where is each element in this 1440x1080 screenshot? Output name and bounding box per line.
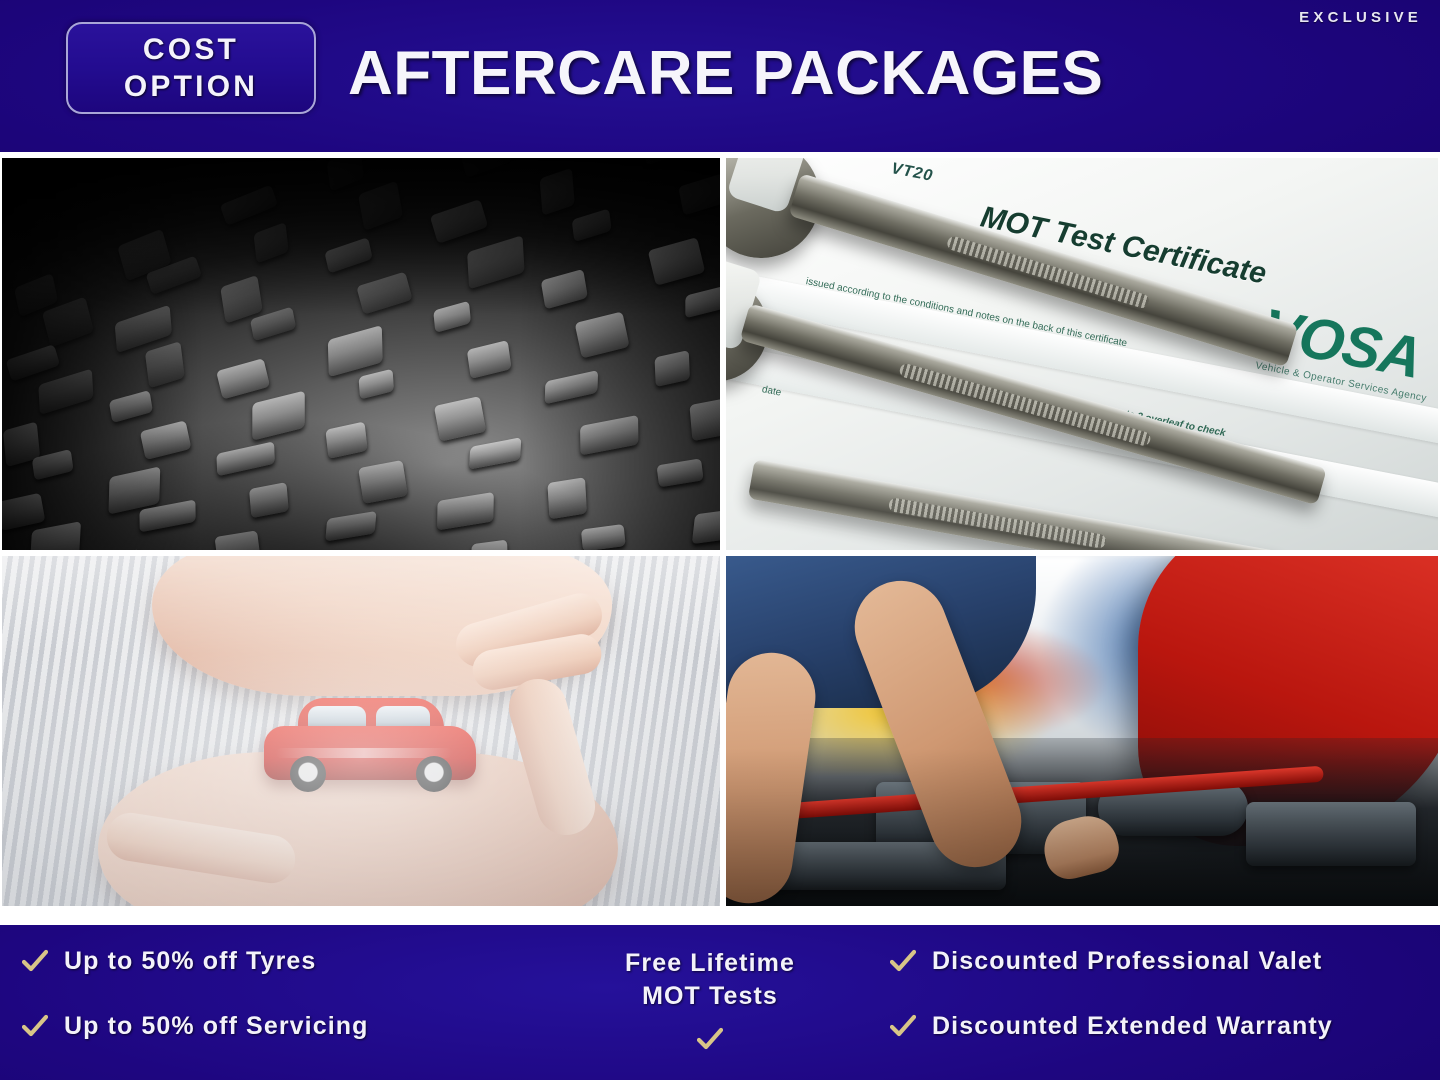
- benefit-label: Discounted Professional Valet: [932, 947, 1322, 976]
- page-title: AFTERCARE PACKAGES: [348, 38, 1103, 110]
- photo-mot-certificate: VT20 MOT Test Certificate issued accordi…: [726, 158, 1438, 550]
- exclusive-label: EXCLUSIVE: [1299, 9, 1422, 26]
- benefit-label-line-2: MOT Tests: [560, 980, 860, 1013]
- photo-grid: VT20 MOT Test Certificate issued accordi…: [0, 158, 1440, 908]
- benefits-bar: Up to 50% off Tyres Up to 50% off Servic…: [0, 925, 1440, 1080]
- benefit-label: Up to 50% off Servicing: [64, 1012, 369, 1041]
- check-icon: [697, 1027, 723, 1053]
- slide-root: EXCLUSIVE COST OPTION AFTERCARE PACKAGES…: [0, 0, 1440, 1080]
- benefit-label: Discounted Extended Warranty: [932, 1012, 1333, 1041]
- cost-option-line-2: OPTION: [124, 68, 258, 105]
- benefit-item: Up to 50% off Servicing: [22, 1012, 369, 1041]
- photo-tyre-tread: [2, 158, 720, 550]
- check-icon: [890, 1014, 916, 1040]
- benefit-item: Up to 50% off Tyres: [22, 947, 369, 976]
- benefits-column-left: Up to 50% off Tyres Up to 50% off Servic…: [22, 947, 369, 1041]
- cost-option-badge: COST OPTION: [66, 22, 316, 114]
- benefit-label-line-1: Free Lifetime: [560, 947, 860, 980]
- check-icon: [890, 949, 916, 975]
- photo-mechanic-engine: [726, 556, 1438, 906]
- header-bar: EXCLUSIVE COST OPTION AFTERCARE PACKAGES: [0, 0, 1440, 152]
- benefit-label: Up to 50% off Tyres: [64, 947, 316, 976]
- check-icon: [22, 1014, 48, 1040]
- engine-component: [1246, 802, 1416, 866]
- benefits-column-middle: Free Lifetime MOT Tests: [560, 947, 860, 1053]
- hands-vignette: [2, 556, 720, 906]
- check-icon: [22, 949, 48, 975]
- tyre-vignette: [2, 158, 720, 550]
- benefit-item: Discounted Extended Warranty: [890, 1012, 1333, 1041]
- photo-hands-toy-car: [2, 556, 720, 906]
- benefits-column-right: Discounted Professional Valet Discounted…: [890, 947, 1333, 1041]
- benefit-item: Discounted Professional Valet: [890, 947, 1333, 976]
- cost-option-line-1: COST: [143, 31, 239, 68]
